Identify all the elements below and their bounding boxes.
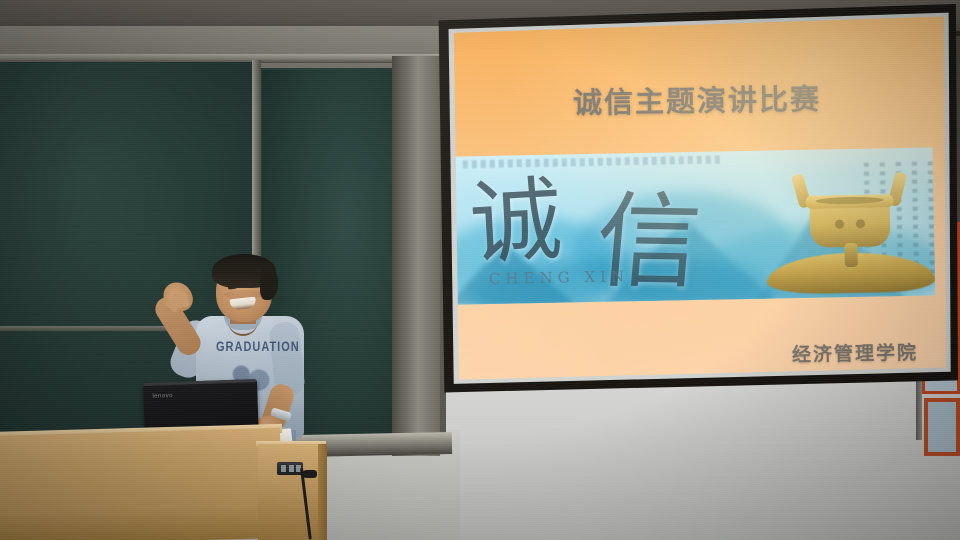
slide-title: 诚信主题演讲比赛 <box>436 74 958 124</box>
teaching-platform <box>0 428 283 540</box>
podium-side-edge <box>318 444 327 540</box>
banner-faint-header-text <box>463 155 723 168</box>
classroom-photo: 诚信主题演讲比赛 诚 信 <box>0 0 960 540</box>
tshirt-print-text: GRADUATION <box>216 340 282 363</box>
bronze-ding-icon <box>765 169 935 294</box>
calligraphy-pinyin: CHENG XIN <box>489 267 629 288</box>
slide-department-label: 经济管理学院 <box>792 338 918 367</box>
podium <box>258 444 324 540</box>
ding-ornament <box>824 215 876 234</box>
slide-banner-image: 诚 信 CHENG XIN <box>453 147 936 304</box>
hair-side <box>260 266 278 300</box>
ding-leg <box>844 243 857 267</box>
projection-screen: 诚信主题演讲比赛 诚 信 <box>436 4 958 394</box>
laptop-brand-label: lenovo <box>152 393 173 400</box>
calligraphy-cheng: 诚 <box>467 173 572 272</box>
projected-slide: 诚信主题演讲比赛 诚 信 <box>436 4 958 394</box>
cable-plug <box>303 470 317 478</box>
blackboard-right-frame <box>392 56 440 456</box>
wall-poster-lower <box>924 398 960 456</box>
